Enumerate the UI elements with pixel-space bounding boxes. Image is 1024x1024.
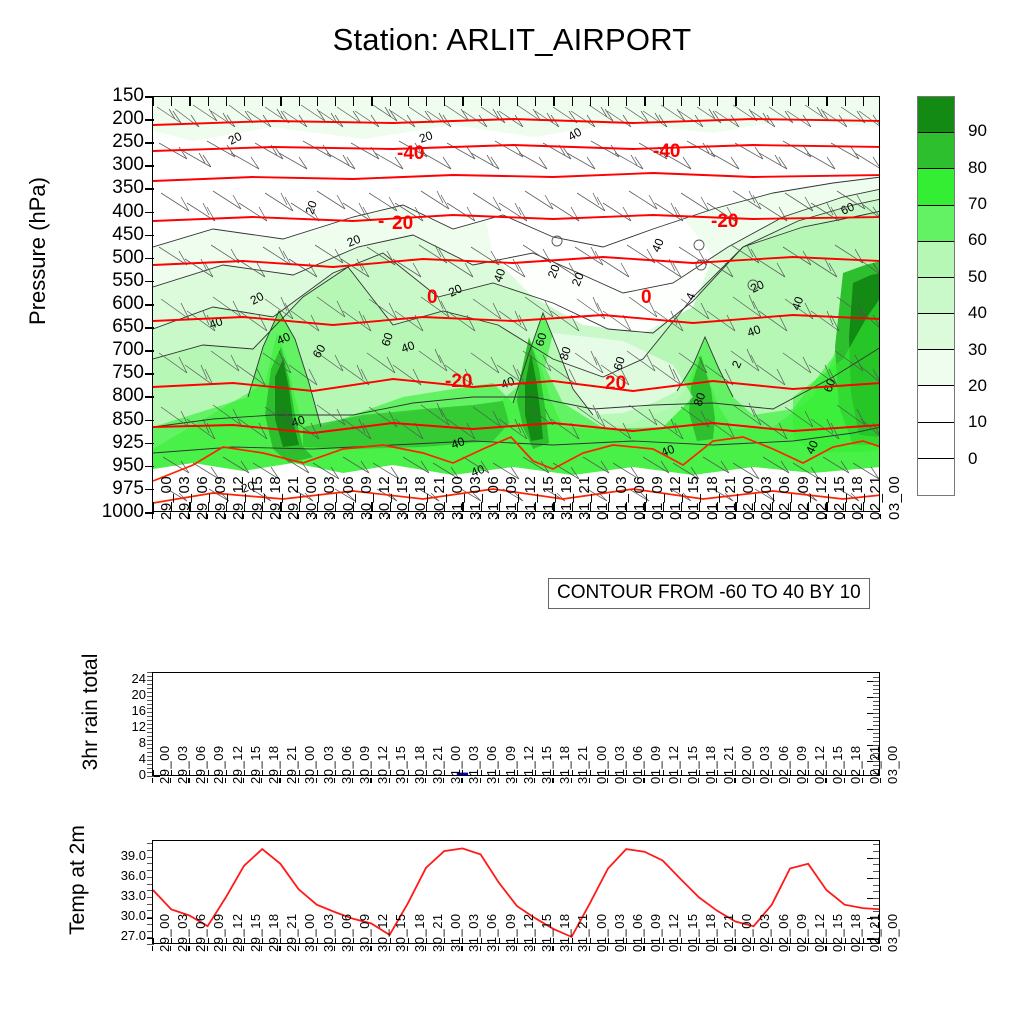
time-tick-mark (207, 778, 208, 783)
temp-tick: 33.0 (98, 889, 146, 902)
time-tick-mark (534, 946, 535, 951)
time-tick-mark (298, 778, 299, 783)
time-tick-mark (352, 946, 353, 951)
time-tick-mark (607, 946, 608, 951)
time-tick-mark (698, 778, 699, 783)
time-tick-mark (716, 946, 717, 951)
time-tick-label: 03_00 (885, 745, 900, 784)
time-tick-mark (207, 946, 208, 951)
axis-minor-tick (873, 878, 879, 879)
time-tick-mark (316, 778, 317, 783)
time-tick-mark (480, 778, 481, 783)
time-tick-mark (680, 946, 681, 951)
time-tick-mark (862, 946, 863, 951)
time-tick-mark (425, 778, 426, 783)
time-tick-mark (643, 778, 644, 783)
time-tick-mark (498, 778, 499, 783)
time-tick-mark (571, 778, 572, 783)
rain-tick: 12 (106, 720, 146, 733)
time-tick-labels-main: 29_0029_0329_0629_0929_1229_1529_1829_21… (152, 514, 880, 584)
temp-tick: 27.0 (98, 929, 146, 942)
time-tick-mark (825, 778, 826, 783)
colorbar-label: 70 (968, 194, 987, 214)
time-tick-mark (716, 778, 717, 783)
temp-tick: 39.0 (98, 849, 146, 862)
time-tick-mark (662, 778, 663, 783)
time-tick-mark (225, 946, 226, 951)
colorbar-label: 30 (968, 340, 987, 360)
time-tick-mark (443, 946, 444, 951)
time-tick-mark (771, 778, 772, 783)
axis-minor-tick (873, 725, 879, 726)
axis-minor-tick (873, 693, 879, 694)
axis-minor-tick (873, 844, 879, 845)
time-tick-mark (261, 946, 262, 951)
temp-tick-labels: 27.030.033.036.039.0 (92, 840, 146, 944)
rain-minor-tick (147, 776, 154, 777)
axis-tick (153, 938, 154, 943)
axis-minor-tick (873, 721, 879, 722)
axis-minor-tick (873, 737, 879, 738)
time-tick-mark (170, 778, 171, 783)
time-tick-mark (370, 946, 371, 951)
time-tick-mark (407, 778, 408, 783)
axis-minor-tick (873, 685, 879, 686)
time-tick-mark (461, 946, 462, 951)
time-tick-mark (407, 946, 408, 951)
time-tick-mark (789, 778, 790, 783)
time-tick-mark (225, 778, 226, 783)
rain-tick: 4 (106, 752, 146, 765)
time-tick-mark (152, 778, 153, 783)
time-tick-mark (844, 946, 845, 951)
time-tick-mark (389, 778, 390, 783)
axis-minor-tick (873, 677, 879, 678)
rain-tick: 20 (106, 688, 146, 701)
temp-tick: 30.0 (98, 909, 146, 922)
time-tick-mark (734, 946, 735, 951)
time-tick-label: 03_00 (885, 913, 900, 952)
axis-tick (153, 770, 154, 775)
time-tick-mark (589, 946, 590, 951)
axis-minor-tick (873, 705, 879, 706)
temp-axis-label: Temp at 2m (66, 780, 90, 980)
rain-tick: 8 (106, 736, 146, 749)
temp-minor-tick (147, 944, 154, 945)
time-tick-mark (807, 778, 808, 783)
time-tick-mark (298, 946, 299, 951)
time-tick-mark (552, 946, 553, 951)
time-tick-mark (188, 946, 189, 951)
rain-tick: 24 (106, 672, 146, 685)
axis-minor-tick (873, 713, 879, 714)
time-tick-mark (188, 778, 189, 783)
axis-minor-tick (873, 891, 879, 892)
time-tick-mark (880, 778, 881, 783)
axis-minor-tick (873, 864, 879, 865)
contour-caption: CONTOUR FROM -60 TO 40 BY 10 (548, 578, 870, 609)
axis-minor-tick (873, 729, 879, 730)
colorbar-label: 90 (968, 121, 987, 141)
time-tick-mark (461, 778, 462, 783)
time-tick-mark (425, 946, 426, 951)
time-tick-mark (844, 778, 845, 783)
time-tick-mark (498, 946, 499, 951)
time-tick-mark (880, 946, 881, 951)
time-tick-mark (807, 946, 808, 951)
time-tick-mark (789, 946, 790, 951)
time-tick-mark (753, 946, 754, 951)
colorbar-label: 50 (968, 267, 987, 287)
time-tick-mark (352, 778, 353, 783)
axis-minor-tick (873, 681, 879, 682)
time-tick-mark (771, 946, 772, 951)
colorbar-tick-labels: 9080706050403020100 (0, 0, 1024, 520)
axis-minor-tick (873, 701, 879, 702)
rain-tick-labels: 04812162024 (98, 672, 146, 776)
time-tick-mark (279, 946, 280, 951)
time-tick-mark (571, 946, 572, 951)
time-tick-mark (316, 946, 317, 951)
time-tick-mark (480, 946, 481, 951)
time-tick-labels-rain: 29_0029_0329_0629_0929_1229_1529_1829_21… (152, 778, 880, 840)
colorbar-label: 10 (968, 412, 987, 432)
time-tick-mark (152, 946, 153, 951)
time-tick-mark (552, 778, 553, 783)
time-tick-mark (534, 778, 535, 783)
colorbar-label: 40 (968, 303, 987, 323)
time-tick-mark (261, 778, 262, 783)
colorbar-label: 60 (968, 230, 987, 250)
axis-minor-tick (873, 709, 879, 710)
axis-minor-tick (873, 851, 879, 852)
time-tick-mark (516, 778, 517, 783)
time-tick-mark (753, 778, 754, 783)
axis-minor-tick (873, 717, 879, 718)
time-tick-mark (589, 778, 590, 783)
time-tick-mark (389, 946, 390, 951)
time-tick-mark (662, 946, 663, 951)
time-tick-mark (680, 778, 681, 783)
time-tick-mark (862, 778, 863, 783)
time-tick-mark (370, 778, 371, 783)
axis-minor-tick (873, 911, 879, 912)
rain-tick: 0 (106, 768, 146, 781)
time-tick-mark (516, 946, 517, 951)
axis-minor-tick (873, 871, 879, 872)
axis-minor-tick (873, 885, 879, 886)
time-tick-mark (243, 946, 244, 951)
time-tick-labels-temp: 29_0029_0329_0629_0929_1229_1529_1829_21… (152, 946, 880, 1008)
axis-minor-tick (873, 697, 879, 698)
time-tick-mark (643, 946, 644, 951)
time-tick-mark (279, 778, 280, 783)
time-tick-mark (734, 778, 735, 783)
axis-minor-tick (873, 733, 879, 734)
colorbar-label: 20 (968, 376, 987, 396)
temp-tick: 36.0 (98, 869, 146, 882)
axis-minor-tick (873, 689, 879, 690)
colorbar-label: 80 (968, 158, 987, 178)
time-tick-mark (170, 946, 171, 951)
axis-minor-tick (873, 741, 879, 742)
time-tick-mark (334, 946, 335, 951)
time-tick-mark (625, 778, 626, 783)
axis-minor-tick (873, 905, 879, 906)
axis-minor-tick (873, 858, 879, 859)
time-tick-mark (334, 778, 335, 783)
time-tick-mark (443, 778, 444, 783)
time-tick-mark (243, 778, 244, 783)
rain-tick: 16 (106, 704, 146, 717)
time-tick-mark (698, 946, 699, 951)
axis-minor-tick (873, 898, 879, 899)
time-tick-mark (607, 778, 608, 783)
time-tick-mark (825, 946, 826, 951)
time-tick-mark (625, 946, 626, 951)
colorbar-label: 0 (968, 449, 977, 469)
